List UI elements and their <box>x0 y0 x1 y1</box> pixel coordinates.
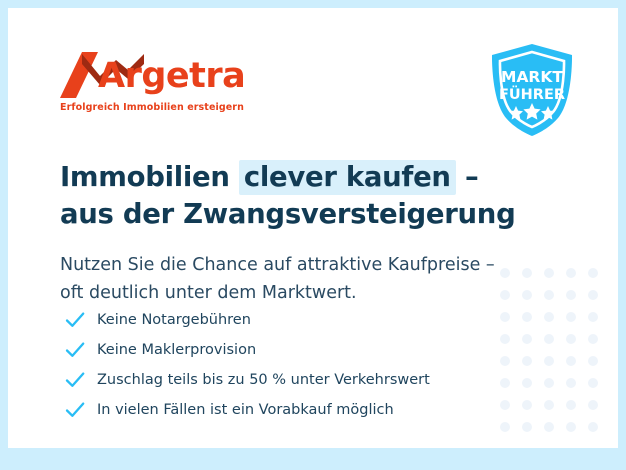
subheadline-line-2: oft deutlich unter dem Marktwert. <box>60 279 495 307</box>
dot <box>522 290 532 300</box>
badge-line2: FÜHRER <box>499 85 565 103</box>
dot-grid-decoration <box>494 262 604 438</box>
market-leader-badge: MARKT FÜHRER <box>486 42 578 138</box>
subheadline-line-1: Nutzen Sie die Chance auf attraktive Kau… <box>60 251 495 279</box>
dot <box>544 334 554 344</box>
dot <box>588 378 598 388</box>
benefit-label: In vielen Fällen ist ein Vorabkauf mögli… <box>97 400 394 420</box>
dot <box>544 356 554 366</box>
benefit-item: Keine Maklerprovision <box>64 335 430 365</box>
dot <box>588 268 598 278</box>
dot <box>522 312 532 322</box>
benefit-item: In vielen Fällen ist ein Vorabkauf mögli… <box>64 395 430 425</box>
shield-badge-icon: MARKT FÜHRER <box>486 42 578 138</box>
promo-banner: Argetra Erfolgreich Immobilien ersteiger… <box>0 0 626 470</box>
dot <box>566 268 576 278</box>
dot <box>500 334 510 344</box>
dot <box>588 400 598 410</box>
dot <box>500 400 510 410</box>
dot <box>566 356 576 366</box>
benefit-label: Keine Notargebühren <box>97 310 251 330</box>
check-icon <box>64 369 86 391</box>
headline-text-after: – <box>456 161 479 193</box>
dot <box>544 290 554 300</box>
dot <box>500 422 510 432</box>
dot <box>566 400 576 410</box>
dot <box>522 378 532 388</box>
dot <box>522 334 532 344</box>
dot <box>566 378 576 388</box>
dot <box>544 378 554 388</box>
dot <box>588 356 598 366</box>
dot <box>522 356 532 366</box>
dot <box>500 378 510 388</box>
dot <box>566 422 576 432</box>
logo-tagline: Erfolgreich Immobilien ersteigern <box>60 102 244 113</box>
dot <box>588 334 598 344</box>
badge-line1: MARKT <box>501 68 563 86</box>
check-icon <box>64 309 86 331</box>
benefits-list: Keine NotargebührenKeine Maklerprovision… <box>64 305 430 425</box>
headline-line-1: Immobilien clever kaufen – <box>60 159 515 196</box>
dot <box>522 400 532 410</box>
benefit-label: Keine Maklerprovision <box>97 340 256 360</box>
argetra-logo[interactable]: Argetra Erfolgreich Immobilien ersteiger… <box>60 52 250 98</box>
dot <box>544 400 554 410</box>
dot <box>544 312 554 322</box>
dot <box>500 312 510 322</box>
dot <box>522 268 532 278</box>
dot <box>522 422 532 432</box>
benefit-label: Zuschlag teils bis zu 50 % unter Verkehr… <box>97 370 430 390</box>
dot <box>588 422 598 432</box>
dot <box>566 312 576 322</box>
dot <box>566 334 576 344</box>
dot <box>500 268 510 278</box>
headline: Immobilien clever kaufen – aus der Zwang… <box>60 159 515 233</box>
check-icon <box>64 399 86 421</box>
headline-line-2: aus der Zwangsversteigerung <box>60 196 515 233</box>
banner-card: Argetra Erfolgreich Immobilien ersteiger… <box>8 8 618 448</box>
headline-highlight: clever kaufen <box>239 160 456 195</box>
logo-wordmark: Argetra <box>98 55 245 97</box>
dot <box>588 312 598 322</box>
dot <box>500 290 510 300</box>
subheadline: Nutzen Sie die Chance auf attraktive Kau… <box>60 251 495 307</box>
headline-text-before: Immobilien <box>60 161 239 193</box>
dot <box>500 356 510 366</box>
dot <box>544 268 554 278</box>
benefit-item: Zuschlag teils bis zu 50 % unter Verkehr… <box>64 365 430 395</box>
dot <box>588 290 598 300</box>
dot <box>544 422 554 432</box>
logo-mark-row: Argetra <box>60 52 250 98</box>
check-icon <box>64 339 86 361</box>
benefit-item: Keine Notargebühren <box>64 305 430 335</box>
dot <box>566 290 576 300</box>
